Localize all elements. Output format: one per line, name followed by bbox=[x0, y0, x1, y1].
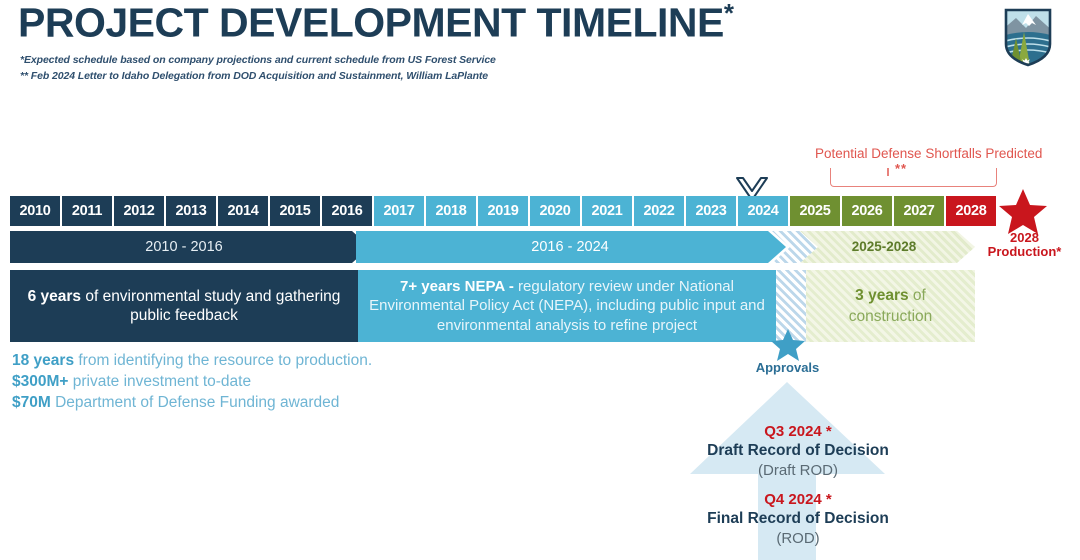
year-cell-2026[interactable]: 2026 bbox=[842, 196, 892, 226]
construction-bold: 3 years bbox=[855, 287, 908, 304]
year-cell-2015[interactable]: 2015 bbox=[270, 196, 320, 226]
phase-label-construction: 2025-2028 bbox=[800, 231, 968, 263]
phase-label-historic: 2010 - 2016 bbox=[10, 231, 358, 263]
draft-rod-quarter: Q3 2024 * bbox=[588, 422, 1008, 441]
stat-text: from identifying the resource to product… bbox=[74, 352, 372, 369]
year-cell-2024[interactable]: 2024 bbox=[738, 196, 788, 226]
year-cell-2013[interactable]: 2013 bbox=[166, 196, 216, 226]
callout-draft-rod: Q3 2024 * Draft Record of Decision (Draf… bbox=[588, 422, 1008, 481]
year-cell-2027[interactable]: 2027 bbox=[894, 196, 944, 226]
production-year: 2028 bbox=[977, 231, 1072, 245]
year-cell-2018[interactable]: 2018 bbox=[426, 196, 476, 226]
year-cell-2028[interactable]: 2028 bbox=[946, 196, 996, 226]
year-cell-2010[interactable]: 2010 bbox=[10, 196, 60, 226]
final-rod-paren: (ROD) bbox=[588, 529, 1008, 549]
year-cell-2021[interactable]: 2021 bbox=[582, 196, 632, 226]
stat-line: $70M Department of Defense Funding award… bbox=[12, 392, 532, 413]
footnote-2: ** Feb 2024 Letter to Idaho Delegation f… bbox=[20, 70, 488, 82]
phase-label-nepa: 2016 - 2024 bbox=[360, 231, 780, 263]
year-cell-2020[interactable]: 2020 bbox=[530, 196, 580, 226]
page-title: PROJECT DEVELOPMENT TIMELINE* bbox=[18, 0, 733, 47]
page-title-text: PROJECT DEVELOPMENT TIMELINE bbox=[18, 0, 724, 46]
draft-rod-title: Draft Record of Decision bbox=[588, 441, 1008, 461]
year-cell-2022[interactable]: 2022 bbox=[634, 196, 684, 226]
description-box-study: 6 years of environmental study and gathe… bbox=[10, 270, 358, 342]
year-cell-2023[interactable]: 2023 bbox=[686, 196, 736, 226]
final-rod-quarter: Q4 2024 * bbox=[588, 490, 1008, 509]
year-cell-2025[interactable]: 2025 bbox=[790, 196, 840, 226]
stat-text: Department of Defense Funding awarded bbox=[51, 394, 340, 411]
year-cell-2014[interactable]: 2014 bbox=[218, 196, 268, 226]
stat-value: $300M+ bbox=[12, 373, 68, 390]
callout-final-rod: Q4 2024 * Final Record of Decision (ROD) bbox=[588, 490, 1008, 549]
production-star-icon bbox=[997, 188, 1049, 236]
stat-text: private investment to-date bbox=[68, 373, 251, 390]
production-label: 2028 Production* bbox=[977, 231, 1072, 259]
stat-line: $300M+ private investment to-date bbox=[12, 371, 532, 392]
timeline-slide: PROJECT DEVELOPMENT TIMELINE* *Expected … bbox=[0, 0, 1080, 560]
nepa-bold: 7+ years NEPA - bbox=[400, 278, 518, 295]
year-cell-2016[interactable]: 2016 bbox=[322, 196, 372, 226]
year-cell-2019[interactable]: 2019 bbox=[478, 196, 528, 226]
draft-rod-paren: (Draft ROD) bbox=[588, 461, 1008, 481]
shortfall-double-asterisk: ** bbox=[895, 161, 907, 176]
year-cell-2012[interactable]: 2012 bbox=[114, 196, 164, 226]
shortfall-bracket-tick bbox=[887, 168, 889, 176]
footnote-1: *Expected schedule based on company proj… bbox=[20, 54, 496, 66]
study-bold: 6 years bbox=[28, 288, 81, 305]
shortfall-bracket bbox=[830, 168, 997, 187]
mountain-shield-logo bbox=[1002, 6, 1054, 68]
description-box-construction: 3 years of construction bbox=[806, 270, 975, 342]
approvals-star-icon bbox=[770, 328, 806, 362]
study-text: 6 years of environmental study and gathe… bbox=[10, 270, 358, 342]
shortfall-annotation-label: Potential Defense Shortfalls Predicted bbox=[815, 146, 1042, 161]
summary-stats: 18 years from identifying the resource t… bbox=[12, 350, 532, 413]
production-caption: Production* bbox=[977, 245, 1072, 259]
study-rest: of environmental study and gathering pub… bbox=[81, 288, 340, 324]
description-box-nepa: 7+ years NEPA - regulatory review under … bbox=[358, 270, 776, 342]
stat-line: 18 years from identifying the resource t… bbox=[12, 350, 532, 371]
year-scale: 2010201120122013201420152016201720182019… bbox=[10, 196, 996, 226]
stat-value: $70M bbox=[12, 394, 51, 411]
stat-value: 18 years bbox=[12, 352, 74, 369]
construction-text: 3 years of construction bbox=[806, 270, 975, 342]
year-cell-2017[interactable]: 2017 bbox=[374, 196, 424, 226]
final-rod-title: Final Record of Decision bbox=[588, 509, 1008, 529]
title-asterisk: * bbox=[724, 0, 734, 28]
year-cell-2011[interactable]: 2011 bbox=[62, 196, 112, 226]
approvals-label: Approvals bbox=[735, 360, 840, 375]
nepa-text: 7+ years NEPA - regulatory review under … bbox=[358, 270, 776, 342]
